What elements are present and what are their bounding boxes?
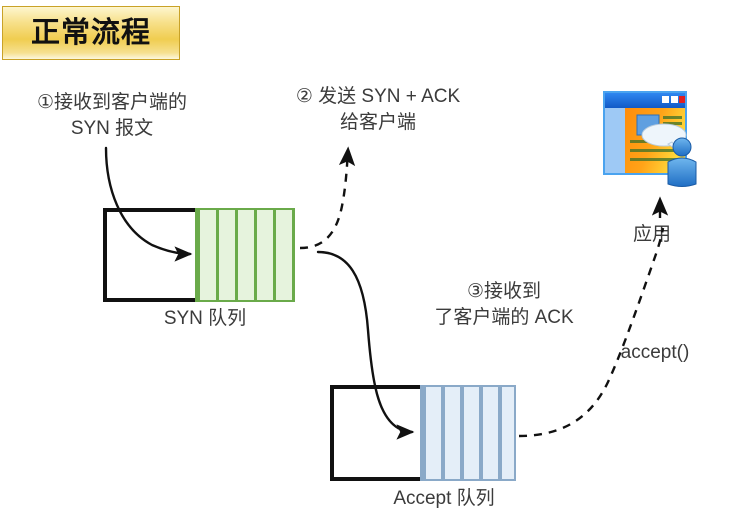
step2-label: ② 发送 SYN + ACK 给客户端 (262, 84, 494, 135)
app-label: 应用 (612, 222, 692, 248)
syn-queue-filled-slots (195, 208, 295, 302)
title-badge-text: 正常流程 (31, 19, 151, 48)
syn-queue-empty-slots (103, 208, 197, 302)
arrow-syn-ack-out (300, 150, 348, 248)
application-window-icon (600, 88, 698, 188)
step3-label: ③接收到 了客户端的 ACK (382, 279, 626, 330)
accept-queue-filled-slots (420, 385, 516, 481)
accept-function-label: accept() (600, 340, 710, 366)
title-badge: 正常流程 (2, 6, 180, 60)
syn-queue-label: SYN 队列 (100, 306, 310, 332)
accept-queue-empty-slots (330, 385, 422, 481)
step1-label: ①接收到客户端的 SYN 报文 (6, 90, 218, 141)
diagram-canvas: 正常流程 ①接收到客户端的 SYN 报文 ② 发送 SYN + ACK 给客户端… (0, 0, 737, 519)
accept-queue-label: Accept 队列 (330, 486, 558, 512)
arrow-accept-call-lower (519, 228, 663, 436)
